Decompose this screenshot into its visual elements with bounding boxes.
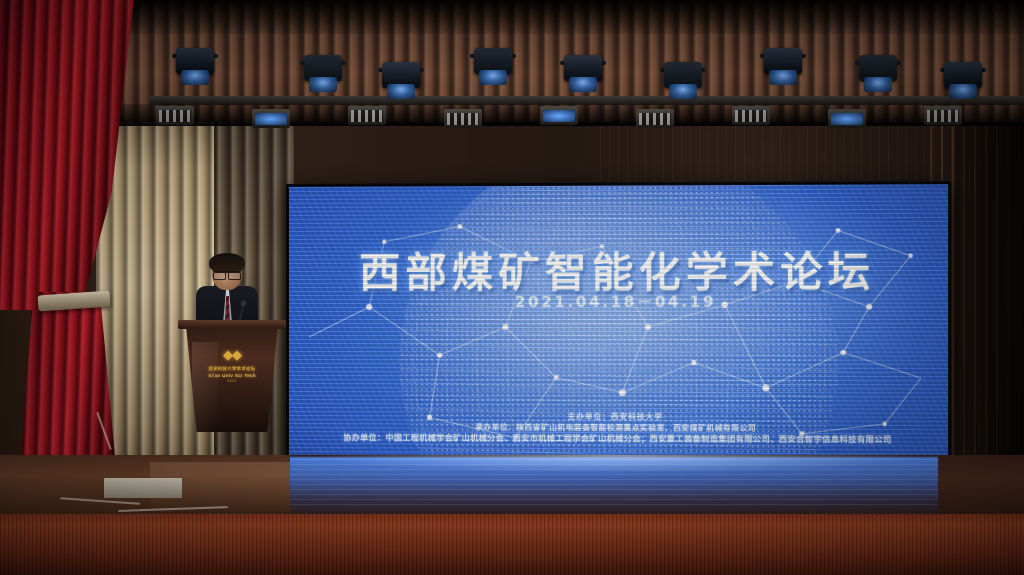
red-stage-curtain [0, 0, 150, 520]
forum-date: 2021.04.18－04.19 [289, 290, 948, 312]
par-can-lens [255, 113, 287, 125]
stage-light-icon [660, 60, 706, 104]
podium-emblem: ◆◆ 西安科技大学学术论坛 Xi'an Univ Sci Tech 2021 [180, 346, 284, 383]
stage-light-icon [940, 60, 986, 104]
par-can-light-icon [540, 106, 578, 125]
apron-wood-grain [0, 514, 1024, 575]
reflection-hotspot [320, 455, 920, 473]
par-can-light-icon [924, 106, 962, 125]
par-can-light-icon [156, 106, 194, 125]
light-lens [387, 84, 415, 99]
stage-light-icon [855, 53, 901, 97]
emblem-diamond-icon: ◆◆ [223, 348, 241, 361]
par-can-lens [447, 113, 479, 125]
light-lens [864, 77, 892, 92]
curtain-folds [0, 0, 134, 310]
par-can-lens [639, 113, 671, 125]
emblem-year: 2021 [180, 379, 284, 383]
par-can-row [150, 104, 1024, 128]
light-lens [669, 84, 697, 99]
par-can-light-icon [348, 106, 386, 125]
stage-light-icon [470, 46, 516, 90]
floor-monitor-speaker [104, 478, 182, 498]
emblem-english-text: Xi'an Univ Sci Tech [180, 373, 284, 378]
stage-light-icon [560, 53, 606, 97]
conference-stage-scene: 西部煤矿智能化学术论坛 2021.04.18－04.19 主办单位：西安科技大学… [0, 0, 1024, 575]
stage-light-icon [300, 53, 346, 97]
led-display-screen[interactable]: 西部煤矿智能化学术论坛 2021.04.18－04.19 主办单位：西安科技大学… [286, 181, 951, 462]
par-can-light-icon [636, 109, 674, 128]
light-lens [949, 84, 977, 99]
par-can-lens [351, 110, 383, 122]
par-can-lens [543, 110, 575, 122]
stage-light-icon [760, 46, 806, 90]
podium-desktop [178, 320, 286, 329]
stage-apron [0, 514, 1024, 575]
speaker-hair [209, 253, 245, 273]
light-lens [309, 77, 337, 92]
lectern-podium: ◆◆ 西安科技大学学术论坛 Xi'an Univ Sci Tech 2021 [180, 320, 284, 432]
par-can-light-icon [252, 109, 290, 128]
credit-co-organizer: 协办单位：中国工程机械学会矿山机械分会、西安市机械工程学会矿山机械分会；西安重工… [297, 432, 940, 446]
stage-light-icon [378, 60, 424, 104]
red-curtain-upper [0, 0, 134, 310]
light-lens [769, 70, 797, 85]
emblem-chinese-text: 西安科技大学学术论坛 [180, 366, 284, 372]
valance-top-shadow [0, 0, 1024, 34]
speaker-glasses [213, 271, 241, 278]
par-can-light-icon [444, 109, 482, 128]
par-can-light-icon [828, 109, 866, 128]
par-can-light-icon [732, 106, 770, 125]
par-can-lens [735, 110, 767, 122]
organizer-credits: 主办单位：西安科技大学 承办单位：陕西省矿山机电装备智能检测重点实验室、西安煤矿… [297, 411, 940, 447]
light-lens [479, 70, 507, 85]
led-screen-surface: 西部煤矿智能化学术论坛 2021.04.18－04.19 主办单位：西安科技大学… [289, 184, 948, 459]
stage-light-icon [172, 46, 218, 90]
par-can-lens [927, 110, 959, 122]
light-lens [569, 77, 597, 92]
par-can-lens [831, 113, 863, 125]
par-can-lens [159, 110, 191, 122]
light-lens [181, 70, 209, 85]
